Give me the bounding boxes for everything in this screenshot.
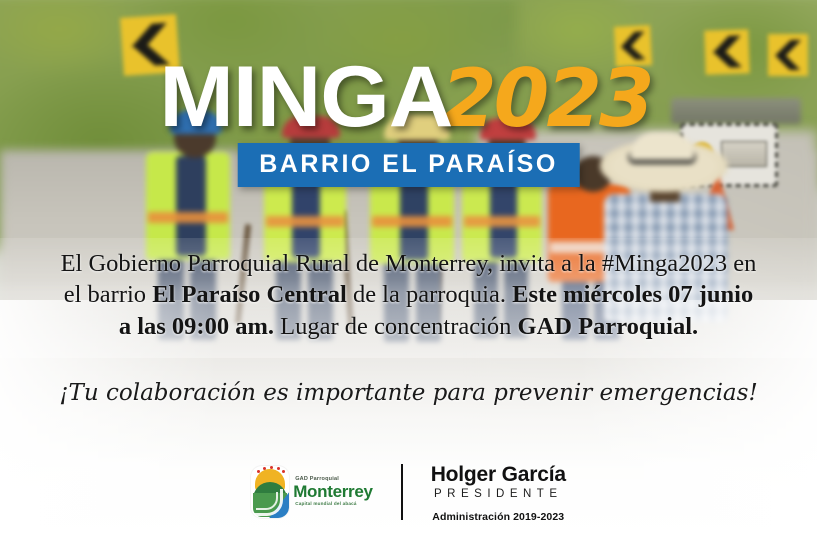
poster-tagline: ¡Tu colaboración es importante para prev…: [0, 380, 817, 406]
poster-content: MINGA2023 BARRIO EL PARAÍSO El Gobierno …: [0, 0, 817, 540]
monterrey-emblem-icon: [251, 466, 289, 518]
administration-period: Administración 2019-2023: [431, 511, 566, 523]
poster-canvas: MINGA2023 BARRIO EL PARAÍSO El Gobierno …: [0, 0, 817, 540]
logo-name: Monterrey: [293, 483, 373, 500]
gad-monterrey-logo: GAD Parroquial Monterrey Capital mundial…: [251, 462, 373, 518]
poster-title: MINGA2023: [0, 48, 817, 147]
president-role: PRESIDENTE: [431, 488, 566, 500]
logo-wordmark: GAD Parroquial Monterrey Capital mundial…: [293, 477, 373, 507]
announcement-location: El Paraíso Central: [152, 281, 347, 308]
president-name: Holger García: [431, 464, 566, 486]
title-year: 2023: [441, 52, 652, 145]
announcement-seg-3: de la parroquia.: [347, 281, 512, 308]
signature-block: Holger García PRESIDENTE Administración …: [431, 462, 566, 523]
logo-subtitle: Capital mundial del abacá: [295, 502, 373, 507]
title-main: MINGA: [160, 48, 453, 147]
announcement-seg-5: Lugar de concentración: [274, 313, 518, 340]
announcement-meetpoint: GAD Parroquial.: [518, 313, 699, 340]
announcement-text: El Gobierno Parroquial Rural de Monterre…: [0, 248, 817, 342]
subtitle-badge: BARRIO EL PARAÍSO: [237, 143, 580, 187]
footer-divider: [401, 464, 403, 520]
poster-footer: GAD Parroquial Monterrey Capital mundial…: [0, 462, 817, 534]
